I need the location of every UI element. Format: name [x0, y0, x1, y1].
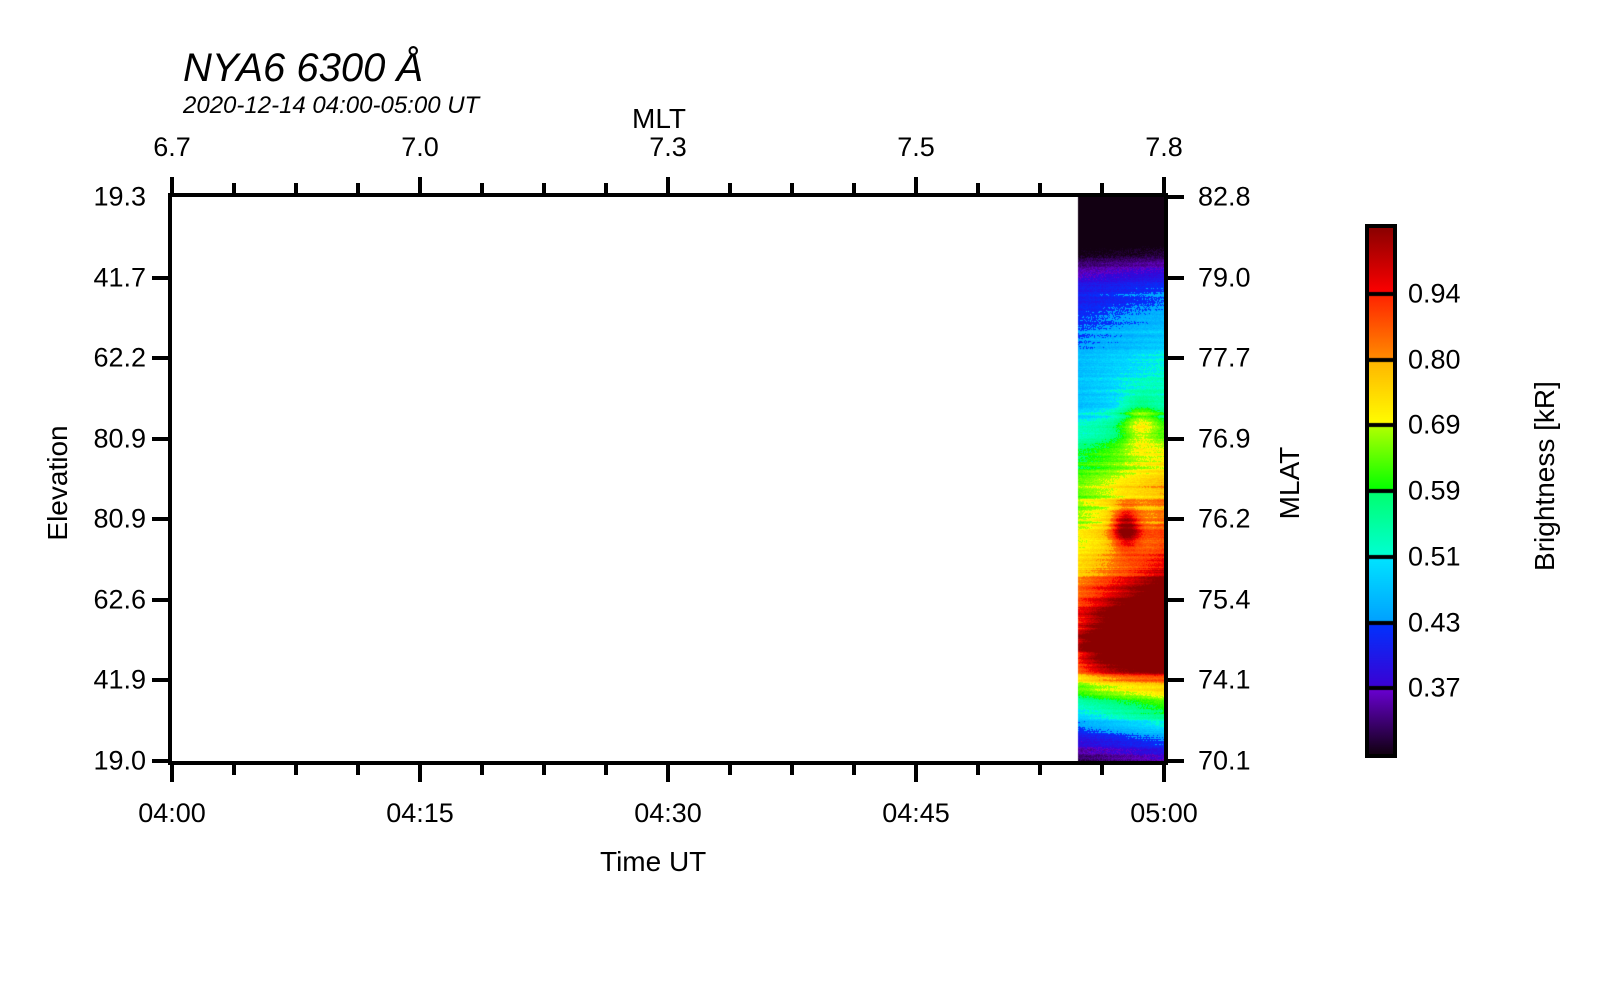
keogram-image — [172, 197, 1164, 761]
axis-tick — [356, 764, 360, 775]
axis-tick — [152, 678, 169, 682]
axis-tick — [728, 764, 732, 775]
right-tick-label-1: 79.0 — [1198, 263, 1251, 294]
axis-tick — [1167, 437, 1184, 441]
top-tick-label-4: 7.8 — [1145, 132, 1183, 163]
colorbar-tick-label-4: 0.51 — [1408, 542, 1461, 573]
axis-tick — [232, 183, 236, 194]
bottom-axis-title: Time UT — [600, 846, 706, 878]
top-tick-label-3: 7.5 — [897, 132, 935, 163]
colorbar-tick-label-1: 0.80 — [1408, 345, 1461, 376]
page-title: NYA6 6300 Å — [183, 46, 423, 91]
axis-tick — [418, 764, 422, 782]
axis-tick — [170, 177, 174, 194]
axis-tick — [666, 764, 670, 782]
axis-tick — [1167, 276, 1184, 280]
axis-tick — [914, 764, 918, 782]
left-tick-label-1: 41.7 — [40, 263, 146, 294]
left-tick-label-7: 19.0 — [40, 746, 146, 777]
right-tick-label-2: 77.7 — [1198, 343, 1251, 374]
axis-tick — [1162, 177, 1166, 194]
top-tick-label-0: 6.7 — [153, 132, 191, 163]
axis-tick — [232, 764, 236, 775]
axis-tick — [294, 764, 298, 775]
top-tick-label-2: 7.3 — [649, 132, 687, 163]
axis-tick — [852, 183, 856, 194]
axis-tick — [152, 437, 169, 441]
colorbar-tick-label-0: 0.94 — [1408, 279, 1461, 310]
axis-tick — [1167, 598, 1184, 602]
colorbar — [1365, 224, 1397, 758]
axis-tick — [1100, 764, 1104, 775]
left-axis-title: Elevation — [42, 403, 74, 563]
bottom-tick-label-2: 04:30 — [634, 798, 702, 829]
page-subtitle: 2020-12-14 04:00-05:00 UT — [183, 92, 479, 120]
left-tick-label-5: 62.6 — [40, 585, 146, 616]
axis-tick — [666, 177, 670, 194]
axis-tick — [1162, 764, 1166, 782]
axis-tick — [790, 183, 794, 194]
axis-tick — [1038, 764, 1042, 775]
axis-tick — [170, 764, 174, 782]
right-tick-label-5: 75.4 — [1198, 585, 1251, 616]
axis-tick — [356, 183, 360, 194]
axis-tick — [604, 764, 608, 775]
axis-tick — [480, 183, 484, 194]
axis-tick — [480, 764, 484, 775]
axis-tick — [976, 183, 980, 194]
top-axis-title: MLT — [632, 103, 686, 135]
axis-tick — [152, 759, 169, 763]
axis-tick — [152, 517, 169, 521]
right-axis-title: MLAT — [1274, 403, 1306, 563]
axis-tick — [418, 177, 422, 194]
bottom-tick-label-4: 05:00 — [1130, 798, 1198, 829]
keogram-figure: NYA6 6300 Å 2020-12-14 04:00-05:00 UT ML… — [0, 0, 1600, 1000]
colorbar-tick-label-5: 0.43 — [1408, 608, 1461, 639]
axis-tick — [152, 356, 169, 360]
right-tick-label-0: 82.8 — [1198, 182, 1251, 213]
colorbar-gradient — [1369, 228, 1393, 754]
axis-tick — [542, 764, 546, 775]
right-tick-label-4: 76.2 — [1198, 504, 1251, 535]
axis-tick — [1167, 195, 1184, 199]
left-tick-label-6: 41.9 — [40, 665, 146, 696]
axis-tick — [790, 764, 794, 775]
plot-area — [168, 193, 1168, 765]
right-tick-label-7: 70.1 — [1198, 746, 1251, 777]
axis-tick — [976, 764, 980, 775]
axis-tick — [1038, 183, 1042, 194]
colorbar-tick-label-2: 0.69 — [1408, 410, 1461, 441]
axis-tick — [852, 764, 856, 775]
axis-tick — [914, 177, 918, 194]
top-tick-label-1: 7.0 — [401, 132, 439, 163]
axis-tick — [1100, 183, 1104, 194]
bottom-tick-label-3: 04:45 — [882, 798, 950, 829]
axis-tick — [542, 183, 546, 194]
axis-tick — [152, 598, 169, 602]
left-tick-label-2: 62.2 — [40, 343, 146, 374]
axis-tick — [152, 276, 169, 280]
bottom-tick-label-1: 04:15 — [386, 798, 454, 829]
axis-tick — [1167, 356, 1184, 360]
axis-tick — [728, 183, 732, 194]
bottom-tick-label-0: 04:00 — [138, 798, 206, 829]
colorbar-title: Brightness [kR] — [1529, 316, 1561, 636]
axis-tick — [294, 183, 298, 194]
colorbar-tick-label-3: 0.59 — [1408, 476, 1461, 507]
axis-tick — [604, 183, 608, 194]
left-tick-label-0: 19.3 — [40, 182, 146, 213]
axis-tick — [1167, 517, 1184, 521]
right-tick-label-6: 74.1 — [1198, 665, 1251, 696]
axis-tick — [1167, 678, 1184, 682]
colorbar-tick-label-6: 0.37 — [1408, 673, 1461, 704]
right-tick-label-3: 76.9 — [1198, 424, 1251, 455]
axis-tick — [1167, 759, 1184, 763]
